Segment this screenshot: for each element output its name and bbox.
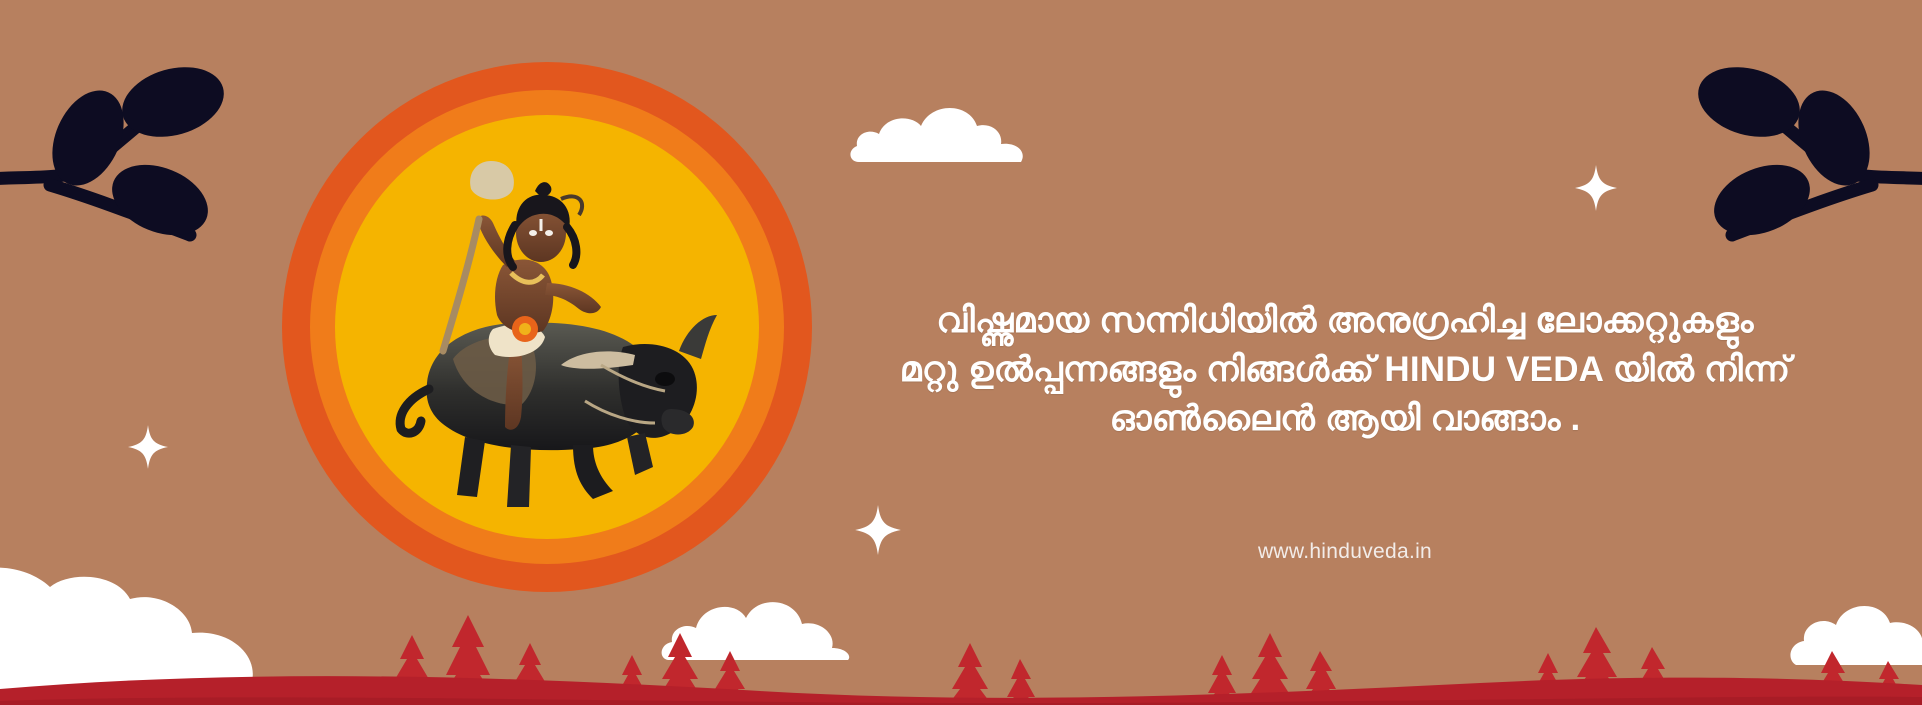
leafy-branch-icon xyxy=(1672,30,1922,245)
logo-ring-inner xyxy=(335,115,759,539)
landscape-footer xyxy=(0,555,1922,705)
sparkle-icon xyxy=(1575,165,1617,211)
headline-line-1: വിഷ്ണുമായ സന്നിധിയിൽ അനുഗ്രഹിച്ച ലോക്കറ്… xyxy=(800,296,1890,345)
logo-ring-middle xyxy=(310,90,784,564)
leafy-branch-icon xyxy=(0,30,250,245)
promotional-banner: വിഷ്ണുമായ സന്നിധിയിൽ അനുഗ്രഹിച്ച ലോക്കറ്… xyxy=(0,0,1922,705)
sparkle-icon xyxy=(128,425,168,469)
logo-badge xyxy=(282,62,812,592)
headline-text: വിഷ്ണുമായ സന്നിധിയിൽ അനുഗ്രഹിച്ച ലോക്കറ്… xyxy=(800,296,1890,443)
vishnumaya-deity-icon xyxy=(335,115,759,539)
cloud-icon xyxy=(845,100,1035,162)
headline-line-3: ഓൺലൈൻ ആയി വാങ്ങാം . xyxy=(800,394,1890,443)
headline-line-2: മറ്റു ഉൽപ്പന്നങ്ങളും നിങ്ങൾക്ക് HINDU VE… xyxy=(800,345,1890,394)
